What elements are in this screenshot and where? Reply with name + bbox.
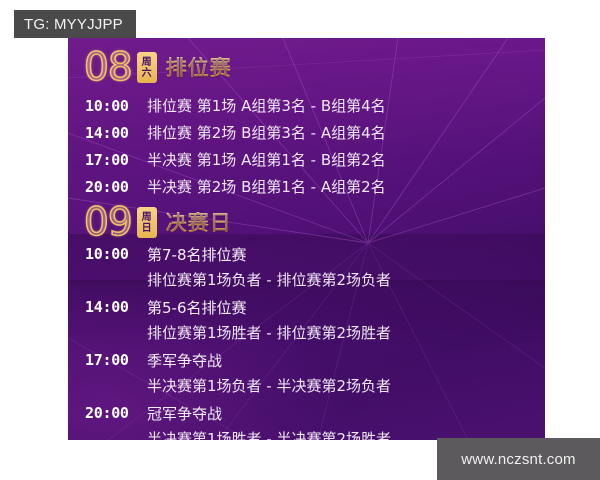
match-row: 10:00 排位赛 第1场 A组第3名 - B组第4名 xyxy=(85,95,386,116)
match-row: 14:00 排位赛 第2场 B组第3名 - A组第4名 xyxy=(85,122,386,143)
match-matchup: 半决赛第1场胜者 - 半决赛第2场胜者 xyxy=(147,428,391,440)
weekday-char-bottom: 六 xyxy=(142,68,152,79)
day-number-09: 09 xyxy=(84,203,132,242)
match-title: 第7-8名排位赛 xyxy=(147,244,391,265)
day-weekday-badge-08: 周 六 xyxy=(137,52,157,83)
match-description: 半决赛 第2场 B组第1名 - A组第2名 xyxy=(147,176,386,197)
weekday-char-bottom: 日 xyxy=(142,223,152,234)
match-time: 14:00 xyxy=(85,297,147,316)
match-matchup: 排位赛第1场负者 - 排位赛第2场负者 xyxy=(147,269,391,290)
match-block: 20:00 冠军争夺战 半决赛第1场胜者 - 半决赛第2场胜者 xyxy=(85,403,391,440)
match-time: 10:00 xyxy=(85,97,147,115)
schedule-poster: 08 周 六 排位赛 10:00 排位赛 第1场 A组第3名 - B组第4名 1… xyxy=(68,38,545,440)
match-time: 20:00 xyxy=(85,178,147,196)
day-header-08: 08 周 六 排位赛 xyxy=(84,48,232,87)
match-block: 14:00 第5-6名排位赛 排位赛第1场胜者 - 排位赛第2场胜者 xyxy=(85,297,391,343)
day-weekday-badge-09: 周 日 xyxy=(137,207,157,238)
match-row: 20:00 半决赛 第2场 B组第1名 - A组第2名 xyxy=(85,176,386,197)
match-time: 14:00 xyxy=(85,124,147,142)
match-matchup: 半决赛第1场负者 - 半决赛第2场负者 xyxy=(147,375,391,396)
telegram-watermark: TG: MYYJJPP xyxy=(14,10,136,38)
match-matchup: 排位赛第1场胜者 - 排位赛第2场胜者 xyxy=(147,322,391,343)
match-title: 第5-6名排位赛 xyxy=(147,297,391,318)
match-time: 17:00 xyxy=(85,350,147,369)
match-time: 10:00 xyxy=(85,244,147,263)
day-header-09: 09 周 日 决赛日 xyxy=(84,203,232,242)
match-block: 17:00 季军争夺战 半决赛第1场负者 - 半决赛第2场负者 xyxy=(85,350,391,396)
day-title-09: 决赛日 xyxy=(166,212,232,234)
match-time: 17:00 xyxy=(85,151,147,169)
match-description: 半决赛 第1场 A组第1名 - B组第2名 xyxy=(147,149,386,170)
match-description: 排位赛 第2场 B组第3名 - A组第4名 xyxy=(147,122,386,143)
weekday-char-top: 周 xyxy=(142,212,152,223)
match-row: 17:00 半决赛 第1场 A组第1名 - B组第2名 xyxy=(85,149,386,170)
match-time: 20:00 xyxy=(85,403,147,422)
day-title-08: 排位赛 xyxy=(166,57,232,79)
match-title: 冠军争夺战 xyxy=(147,403,391,424)
match-description: 排位赛 第1场 A组第3名 - B组第4名 xyxy=(147,95,386,116)
website-watermark: www.nczsnt.com xyxy=(437,438,600,480)
weekday-char-top: 周 xyxy=(142,57,152,68)
match-title: 季军争夺战 xyxy=(147,350,391,371)
day-number-08: 08 xyxy=(84,48,132,87)
match-block: 10:00 第7-8名排位赛 排位赛第1场负者 - 排位赛第2场负者 xyxy=(85,244,391,290)
